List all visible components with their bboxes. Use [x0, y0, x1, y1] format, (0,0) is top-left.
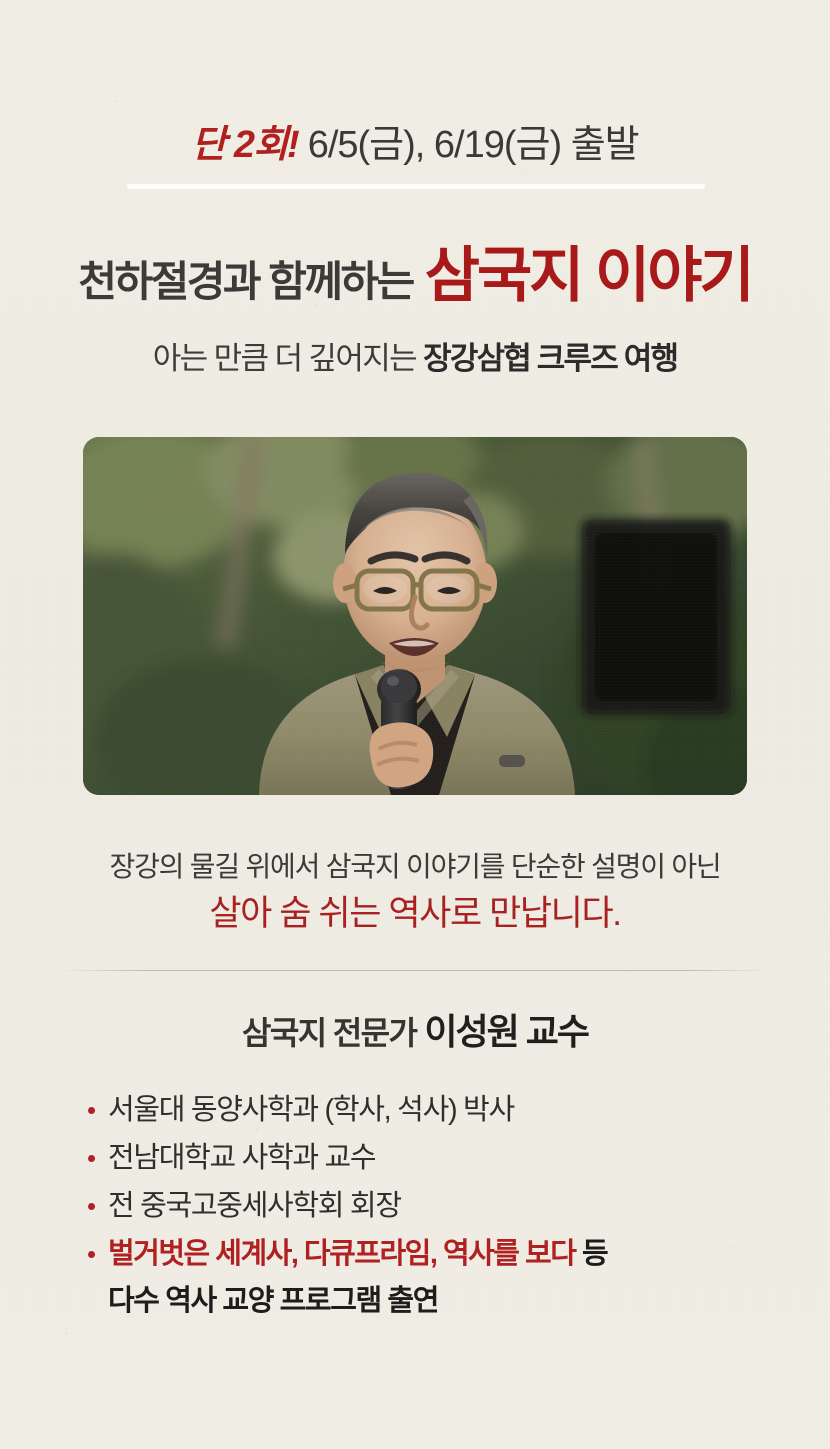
list-item: 전 중국고중세사학회 회장 — [86, 1182, 766, 1230]
list-item: 전남대학교 사학과 교수 — [86, 1134, 766, 1182]
kicker-dates: 6/5(금), 6/19(금) 출발 — [308, 124, 639, 166]
credential-suffix: 등 — [582, 1238, 607, 1270]
kicker-emphasis: 단 2회! — [191, 124, 298, 166]
credential-programs: 벌거벗은 세계사, 다큐프라임, 역사를 보다 — [108, 1238, 575, 1270]
list-item: 서울대 동양사학과 (학사, 석사) 박사 — [86, 1086, 766, 1134]
professor-name: 이성원 교수 — [424, 1011, 588, 1052]
subtitle: 아는 만큼 더 깊어지는 장강삼협 크루즈 여행 — [0, 336, 830, 382]
subtitle-strong: 장강삼협 크루즈 여행 — [423, 341, 677, 376]
title-highlight: 삼국지 이야기 — [425, 242, 752, 309]
kicker-headline: 단 2회! 6/5(금), 6/19(금) 출발 — [0, 118, 830, 172]
professor-heading: 삼국지 전문가이성원 교수 — [0, 1008, 830, 1064]
credential-second-line: 다수 역사 교양 프로그램 출연 — [86, 1278, 766, 1324]
description: 장강의 물길 위에서 삼국지 이야기를 단순한 설명이 아닌 살아 숨 쉬는 역… — [0, 845, 830, 939]
credential-text: 전 중국고중세사학회 회장 — [108, 1190, 401, 1222]
credential-list: 서울대 동양사학과 (학사, 석사) 박사 전남대학교 사학과 교수 전 중국고… — [86, 1086, 766, 1324]
list-item-highlighted: 벌거벗은 세계사, 다큐프라임, 역사를 보다 등 — [86, 1230, 766, 1278]
subtitle-normal: 아는 만큼 더 깊어지는 — [153, 341, 416, 376]
bullet-dot-icon — [88, 1203, 95, 1210]
credential-text: 전남대학교 사학과 교수 — [108, 1142, 375, 1174]
bullet-dot-icon — [88, 1155, 95, 1162]
title-lead: 천하절경과 함께하는 — [78, 258, 412, 305]
speaker-photo — [83, 437, 747, 795]
kicker-underline — [127, 184, 705, 189]
bullet-dot-icon — [88, 1107, 95, 1114]
section-divider — [60, 970, 770, 971]
speaker-photo-illustration — [83, 437, 747, 795]
bullet-dot-icon — [88, 1251, 95, 1258]
credential-text: 서울대 동양사학과 (학사, 석사) 박사 — [108, 1094, 514, 1126]
description-line-1: 장강의 물길 위에서 삼국지 이야기를 단순한 설명이 아닌 — [0, 845, 830, 889]
page-title: 천하절경과 함께하는삼국지 이야기 — [0, 243, 830, 325]
description-line-2: 살아 숨 쉬는 역사로 만납니다. — [0, 889, 830, 939]
promo-poster: 단 2회! 6/5(금), 6/19(금) 출발 천하절경과 함께하는삼국지 이… — [0, 0, 830, 1449]
professor-prefix: 삼국지 전문가 — [242, 1015, 416, 1051]
